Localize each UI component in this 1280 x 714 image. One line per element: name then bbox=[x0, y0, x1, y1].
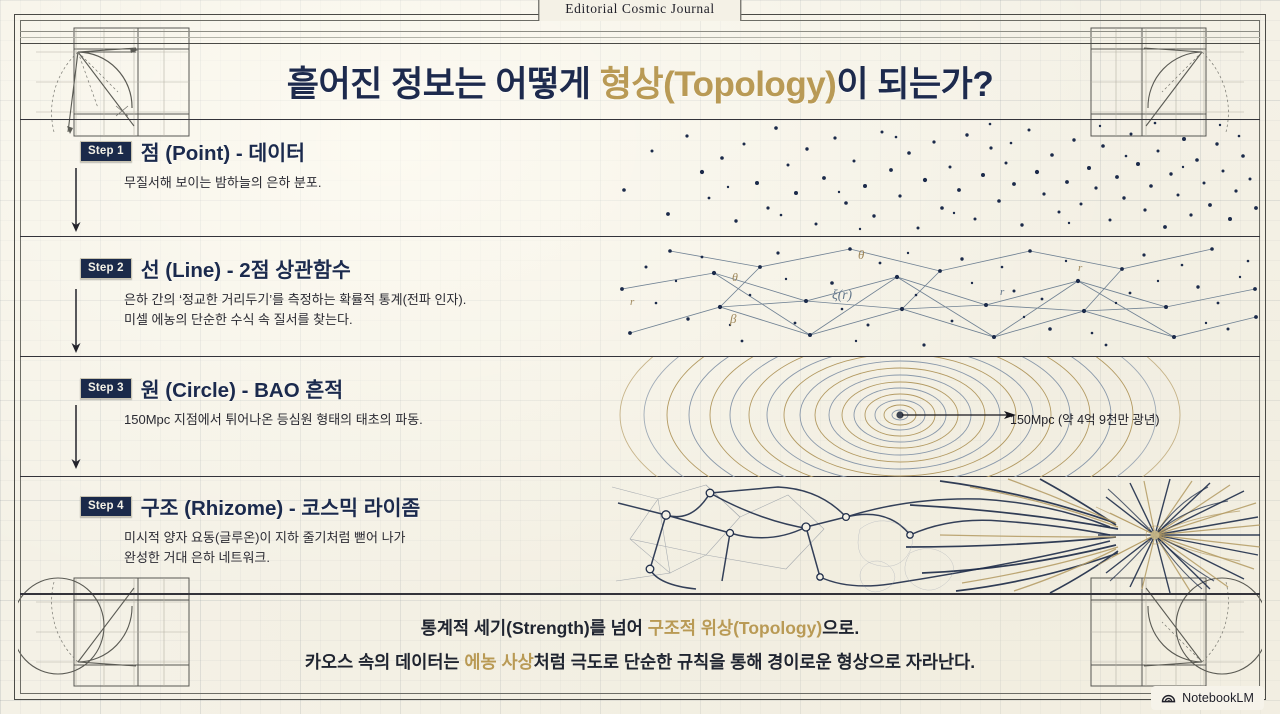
summary-line-1-accent: 구조적 위상(Topology) bbox=[648, 618, 822, 638]
step-badge-4: Step 4 bbox=[80, 496, 132, 517]
page-title-after: 이 되는가? bbox=[836, 65, 993, 104]
summary-line-1: 통계적 세기(Strength)를 넘어 구조적 위상(Topology)으로. bbox=[421, 615, 860, 640]
step-description-2: 은하 간의 ‘정교한 거리두기’를 측정하는 확률적 통계(전파 인자). 미셀… bbox=[124, 290, 600, 330]
step-badge-2: Step 2 bbox=[80, 258, 132, 279]
masthead-plate: Editorial Cosmic Journal bbox=[538, 0, 741, 21]
step-description-4-line-1: 미시적 양자 요동(글루온)이 지하 줄기처럼 뻗어 나가 bbox=[124, 528, 600, 548]
step-description-2-line-1: 은하 간의 ‘정교한 거리두기’를 측정하는 확률적 통계(전파 인자). bbox=[124, 290, 600, 310]
step-text-4: Step 4 구조 (Rhizome) - 코스믹 라이좀 미시적 양자 요동(… bbox=[80, 491, 600, 568]
cosmic-web-hub bbox=[1151, 531, 1160, 540]
illustration-scatter-starfield bbox=[610, 120, 1260, 237]
steps-area: Step 1 점 (Point) - 데이터 무질서해 보이는 밤하늘의 은하 … bbox=[20, 120, 1260, 594]
step-description-4: 미시적 양자 요동(글루온)이 지하 줄기처럼 뻗어 나가 완성한 거대 은하 … bbox=[124, 528, 600, 568]
step-text-2: Step 2 선 (Line) - 2점 상관함수 은하 간의 ‘정교한 거리두… bbox=[80, 253, 600, 330]
summary-block: 통계적 세기(Strength)를 넘어 구조적 위상(Topology)으로.… bbox=[20, 594, 1260, 694]
illustration-cosmic-web bbox=[610, 477, 1260, 594]
illustration-linked-network: θ ξ(r) θ β r r r bbox=[610, 237, 1260, 357]
summary-line-1-after: 으로. bbox=[822, 618, 859, 638]
step-text-1: Step 1 점 (Point) - 데이터 무질서해 보이는 밤하늘의 은하 … bbox=[80, 136, 600, 193]
step-text-3: Step 3 원 (Circle) - BAO 흔적 150Mpc 지점에서 튀… bbox=[80, 373, 600, 430]
bao-center-point bbox=[896, 411, 903, 418]
step-headline-1: Step 1 점 (Point) - 데이터 bbox=[80, 136, 600, 166]
step-headline-4: Step 4 구조 (Rhizome) - 코스믹 라이좀 bbox=[80, 491, 600, 521]
step-row-3: 150Mpc (약 4억 9천만 광년) Step 3 원 (Circle) -… bbox=[20, 357, 1260, 477]
masthead-rule-primary bbox=[20, 31, 1260, 32]
step-title-4: 구조 (Rhizome) - 코스믹 라이좀 bbox=[141, 491, 421, 521]
summary-line-2-after: 처럼 극도로 단순한 규칙을 통해 경이로운 형상으로 자라난다. bbox=[534, 652, 975, 672]
page-title: 흩어진 정보는 어떻게 형상(Topology)이 되는가? bbox=[287, 56, 993, 107]
summary-line-2-accent: 에농 사상 bbox=[464, 652, 533, 672]
notebooklm-swirl-icon bbox=[1161, 690, 1176, 705]
step-description-2-line-2: 미셀 에농의 단순한 수식 속 질서를 찾는다. bbox=[124, 310, 600, 330]
math-symbol-theta-2: θ bbox=[732, 270, 738, 284]
bao-scale-annotation: 150Mpc (약 4억 9천만 광년) bbox=[1010, 409, 1160, 428]
illustration-concentric-rings bbox=[610, 357, 1260, 477]
step-headline-2: Step 2 선 (Line) - 2점 상관함수 bbox=[80, 253, 600, 283]
summary-line-2-before: 카오스 속의 데이터는 bbox=[305, 652, 465, 672]
step-row-4: Step 4 구조 (Rhizome) - 코스믹 라이좀 미시적 양자 요동(… bbox=[20, 477, 1260, 594]
step-badge-3: Step 3 bbox=[80, 378, 132, 399]
step-badge-1: Step 1 bbox=[80, 141, 132, 162]
summary-line-2: 카오스 속의 데이터는 에농 사상처럼 극도로 단순한 규칙을 통해 경이로운 … bbox=[305, 649, 975, 674]
step-title-2: 선 (Line) - 2점 상관함수 bbox=[141, 253, 351, 283]
notebooklm-label: NotebookLM bbox=[1182, 691, 1254, 705]
step-description-3: 150Mpc 지점에서 튀어나온 등심원 형태의 태초의 파동. bbox=[124, 410, 600, 430]
infographic-page: Editorial Cosmic Journal 흩어진 정보는 어떻게 형상(… bbox=[0, 0, 1280, 714]
math-symbol-theta: θ bbox=[858, 247, 865, 262]
page-title-before: 흩어진 정보는 어떻게 bbox=[287, 65, 600, 104]
title-band: 흩어진 정보는 어떻게 형상(Topology)이 되는가? bbox=[20, 44, 1260, 120]
masthead-band bbox=[20, 20, 1260, 44]
step-description-1: 무질서해 보이는 밤하늘의 은하 분포. bbox=[124, 173, 600, 193]
math-symbol-r-2: r bbox=[1078, 262, 1083, 274]
step-description-4-line-2: 완성한 거대 은하 네트워크. bbox=[124, 548, 600, 568]
step-description-3-line-1: 150Mpc 지점에서 튀어나온 등심원 형태의 태초의 파동. bbox=[124, 410, 600, 430]
math-symbol-beta: β bbox=[729, 311, 737, 326]
summary-line-1-before: 통계적 세기(Strength)를 넘어 bbox=[421, 618, 648, 638]
step-title-1: 점 (Point) - 데이터 bbox=[141, 136, 305, 166]
step-title-3: 원 (Circle) - BAO 흔적 bbox=[141, 373, 343, 403]
math-symbol-r: r bbox=[1000, 286, 1005, 298]
math-symbol-small: r bbox=[630, 296, 635, 308]
step-row-2: θ ξ(r) θ β r r r Step 2 선 (Line) - 2점 상관… bbox=[20, 237, 1260, 357]
math-symbol-xi-r: ξ(r) bbox=[832, 287, 853, 302]
masthead-rule-secondary bbox=[20, 37, 1260, 38]
step-description-1-line-1: 무질서해 보이는 밤하늘의 은하 분포. bbox=[124, 173, 600, 193]
step-row-1: Step 1 점 (Point) - 데이터 무질서해 보이는 밤하늘의 은하 … bbox=[20, 120, 1260, 237]
page-title-accent: 형상(Topology) bbox=[600, 65, 837, 104]
journal-title: Editorial Cosmic Journal bbox=[565, 1, 714, 17]
step-headline-3: Step 3 원 (Circle) - BAO 흔적 bbox=[80, 373, 600, 403]
notebooklm-badge[interactable]: NotebookLM bbox=[1151, 686, 1264, 710]
